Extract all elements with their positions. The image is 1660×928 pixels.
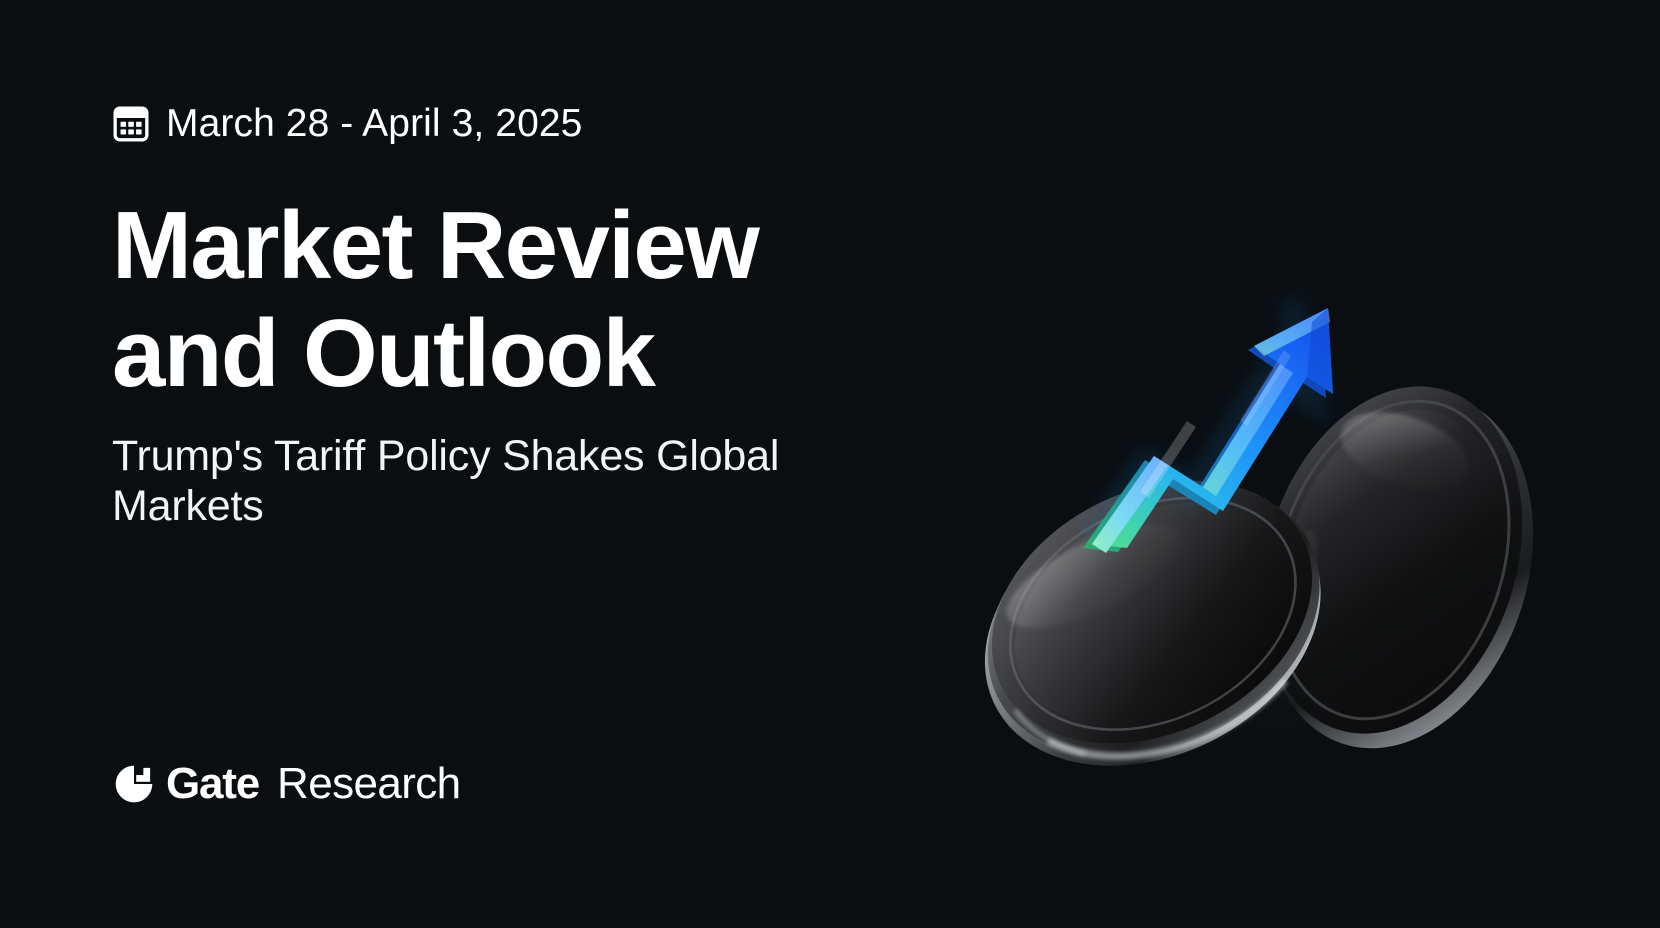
three-d-coins-artwork xyxy=(940,0,1660,928)
calendar-icon xyxy=(112,105,150,143)
market-review-banner: March 28 - April 3, 2025 Market Review a… xyxy=(0,0,1660,928)
page-subtitle: Trump's Tariff Policy Shakes Global Mark… xyxy=(112,432,942,532)
text-content-column: March 28 - April 3, 2025 Market Review a… xyxy=(112,0,972,928)
date-range-row: March 28 - April 3, 2025 xyxy=(112,104,582,143)
growth-arrow-up xyxy=(1083,300,1333,553)
date-range-label: March 28 - April 3, 2025 xyxy=(166,104,582,143)
coin-right-upright xyxy=(1215,352,1578,783)
gate-logo-mark-icon xyxy=(112,762,156,806)
brand-lockup: Gate Research xyxy=(112,762,461,806)
coin-left-tilted xyxy=(940,428,1369,820)
brand-name-label: Gate xyxy=(166,762,259,806)
brand-division-label: Research xyxy=(277,762,461,806)
page-title: Market Review and Outlook xyxy=(112,192,932,407)
